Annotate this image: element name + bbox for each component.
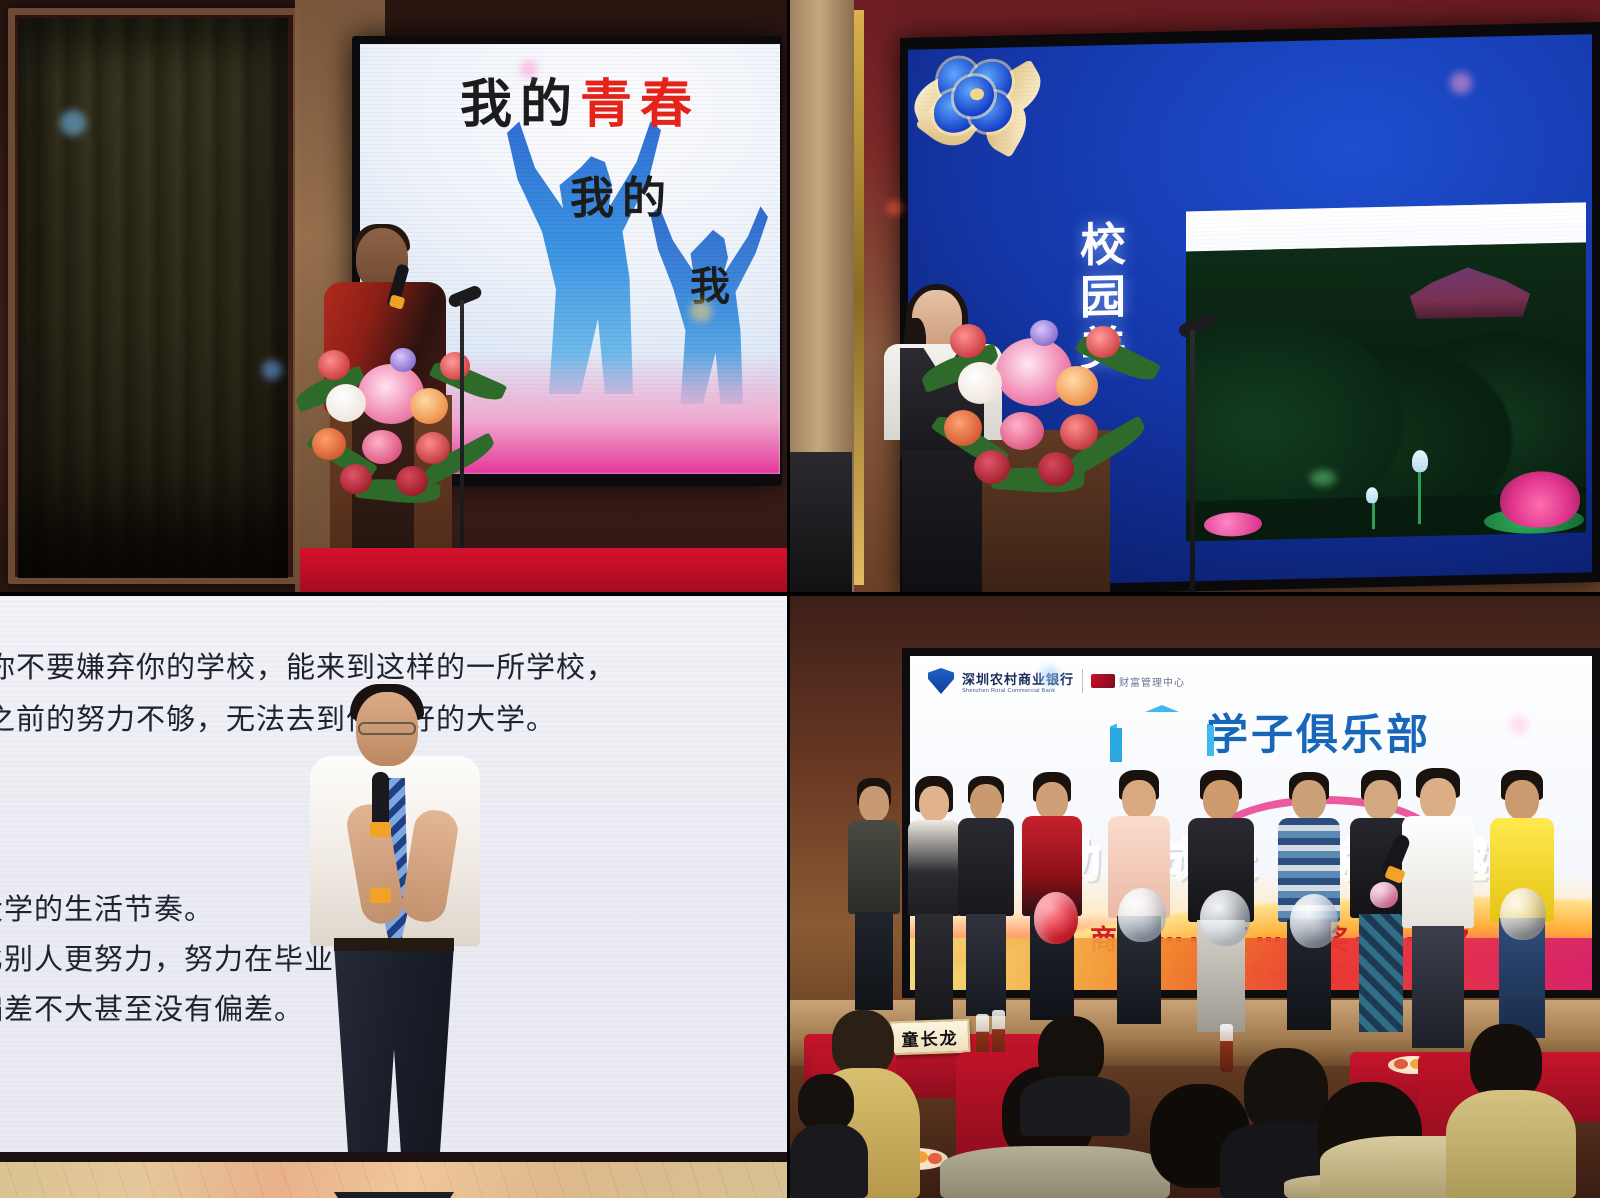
house-roof-icon xyxy=(1110,712,1200,756)
microphone-stand-right xyxy=(1190,330,1195,592)
clear-balloon xyxy=(1118,888,1166,942)
partner-name: 财富管理中心 xyxy=(1119,674,1185,689)
stage-participant xyxy=(1108,770,1170,1024)
photo-panel-bottom-left: 你不要嫌弃你的学校，能来到这样的一所学校， 之前的努力不够，无法去到件更好的大学… xyxy=(0,596,787,1198)
photo-panel-bottom-right: 深圳农村商业银行 Shenzhen Rural Commercial Bank … xyxy=(790,596,1600,1198)
red-stage-carpet xyxy=(300,548,787,592)
clear-balloon xyxy=(1500,888,1546,940)
photo-panel-top-left: 我的青春 我的 我 xyxy=(0,0,787,592)
stage-participant xyxy=(1490,770,1554,1038)
clear-balloon xyxy=(1200,890,1250,946)
panel-gutter-vertical xyxy=(787,0,790,1198)
presenter-belt xyxy=(334,938,454,951)
stage-participant xyxy=(848,778,900,1010)
bank-logo-icon xyxy=(928,668,954,694)
stage-curtain xyxy=(18,18,288,578)
stage-participant xyxy=(958,776,1014,1016)
club-name: 学子俱乐部 xyxy=(1206,714,1431,756)
stage-participant xyxy=(908,776,960,1026)
microphone-grip-bottom xyxy=(370,888,391,903)
presenter-glasses xyxy=(358,722,416,735)
photo-panel-top-right: 校园美 xyxy=(790,0,1600,592)
microphone-grip-top xyxy=(370,822,391,837)
flower-bouquet-top-right xyxy=(930,300,1140,500)
stage-speaker-box xyxy=(790,452,852,592)
audience-member xyxy=(1446,1024,1576,1198)
stage-participant xyxy=(1278,772,1340,1030)
stage-host xyxy=(1402,768,1474,1048)
logo-divider xyxy=(1082,669,1083,693)
audience-member xyxy=(790,1074,868,1198)
panel-gutter-horizontal xyxy=(0,592,1600,596)
partner-logo-icon xyxy=(1091,674,1115,688)
presenter-shoes xyxy=(334,1192,454,1198)
clear-balloon xyxy=(1290,894,1338,948)
microphone-stand xyxy=(460,300,464,588)
stage-participant xyxy=(1188,770,1254,1032)
stage-participant xyxy=(1022,772,1082,1020)
gold-trim-strip xyxy=(854,10,864,585)
speaker-student-presenter xyxy=(300,692,490,1198)
photo-collage: 我的青春 我的 我 xyxy=(0,0,1600,1198)
club-logo-block: 学子俱乐部 xyxy=(1110,712,1431,756)
pink-balloon xyxy=(1370,882,1398,908)
partner-logo-block: 财富管理中心 xyxy=(1091,674,1185,689)
bank-name-en: Shenzhen Rural Commercial Bank xyxy=(962,688,1074,694)
red-balloon xyxy=(1034,892,1078,944)
